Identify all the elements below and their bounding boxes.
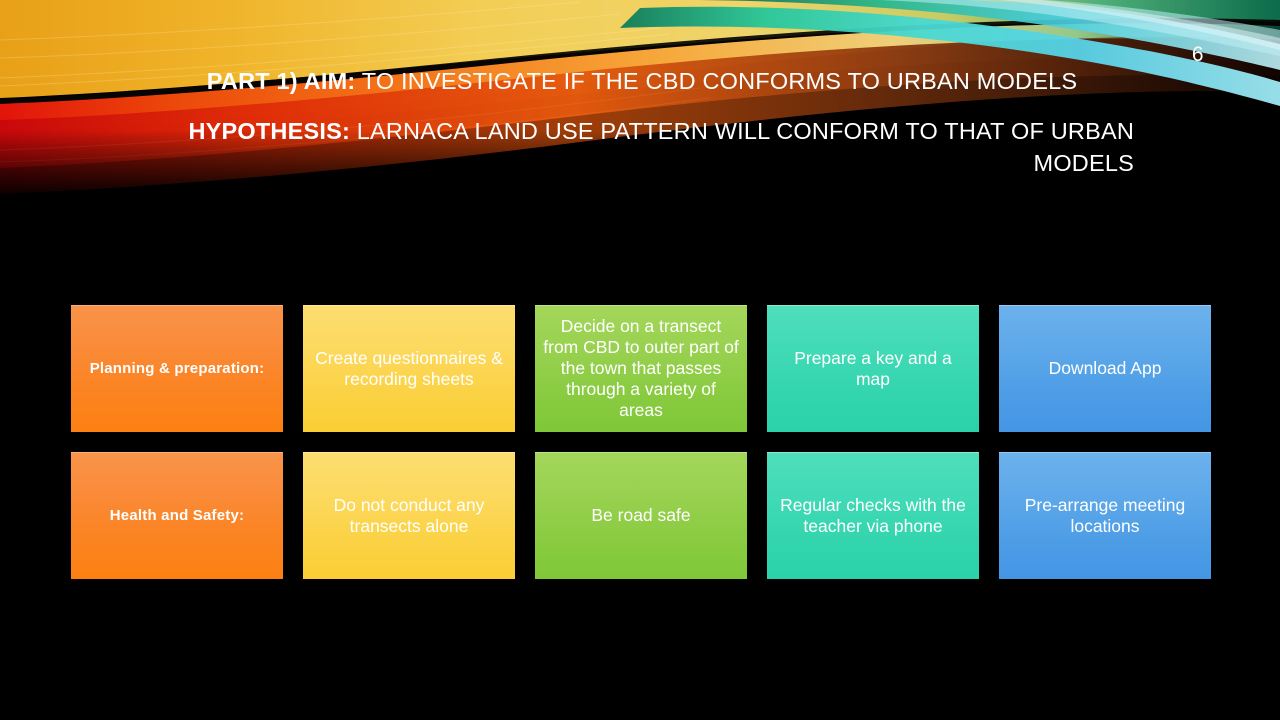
- matrix-cell-planning-1[interactable]: Create questionnaires & recording sheets: [303, 305, 515, 432]
- matrix-cell-health-label[interactable]: Health and Safety:: [71, 452, 283, 579]
- matrix-row-health-and-safety: Health and Safety: Do not conduct any tr…: [71, 452, 1209, 579]
- aim-text: TO INVESTIGATE IF THE CBD CONFORMS TO UR…: [362, 68, 1078, 94]
- slide-canvas: 6 PART 1) AIM: TO INVESTIGATE IF THE CBD…: [0, 0, 1280, 720]
- cell-text: Health and Safety:: [79, 506, 275, 525]
- slide-title-block: PART 1) AIM: TO INVESTIGATE IF THE CBD C…: [150, 66, 1134, 179]
- matrix-cell-planning-2[interactable]: Decide on a transect from CBD to outer p…: [535, 305, 747, 432]
- matrix-cell-planning-4[interactable]: Download App: [999, 305, 1211, 432]
- cell-text: Download App: [1007, 358, 1203, 379]
- matrix-cell-health-2[interactable]: Be road safe: [535, 452, 747, 579]
- cell-text: Pre-arrange meeting locations: [1007, 495, 1203, 537]
- hypothesis-label: HYPOTHESIS:: [188, 118, 350, 144]
- cell-text: Planning & preparation:: [79, 359, 275, 378]
- cell-text: Be road safe: [543, 505, 739, 526]
- matrix-cell-health-4[interactable]: Pre-arrange meeting locations: [999, 452, 1211, 579]
- matrix-cell-health-3[interactable]: Regular checks with the teacher via phon…: [767, 452, 979, 579]
- cell-text: Create questionnaires & recording sheets: [311, 348, 507, 390]
- cell-text: Prepare a key and a map: [775, 348, 971, 390]
- cell-text: Regular checks with the teacher via phon…: [775, 495, 971, 537]
- matrix-cell-planning-label[interactable]: Planning & preparation:: [71, 305, 283, 432]
- cell-text: Do not conduct any transects alone: [311, 495, 507, 537]
- slide-number: 6: [1192, 44, 1204, 65]
- hypothesis-line: HYPOTHESIS: LARNACA LAND USE PATTERN WIL…: [150, 115, 1134, 179]
- process-matrix: Planning & preparation: Create questionn…: [71, 305, 1209, 579]
- aim-line: PART 1) AIM: TO INVESTIGATE IF THE CBD C…: [150, 66, 1134, 97]
- matrix-cell-health-1[interactable]: Do not conduct any transects alone: [303, 452, 515, 579]
- matrix-row-planning: Planning & preparation: Create questionn…: [71, 305, 1209, 432]
- hypothesis-text: LARNACA LAND USE PATTERN WILL CONFORM TO…: [357, 118, 1134, 176]
- cell-text: Decide on a transect from CBD to outer p…: [543, 316, 739, 421]
- aim-label: PART 1) AIM:: [207, 68, 356, 94]
- matrix-cell-planning-3[interactable]: Prepare a key and a map: [767, 305, 979, 432]
